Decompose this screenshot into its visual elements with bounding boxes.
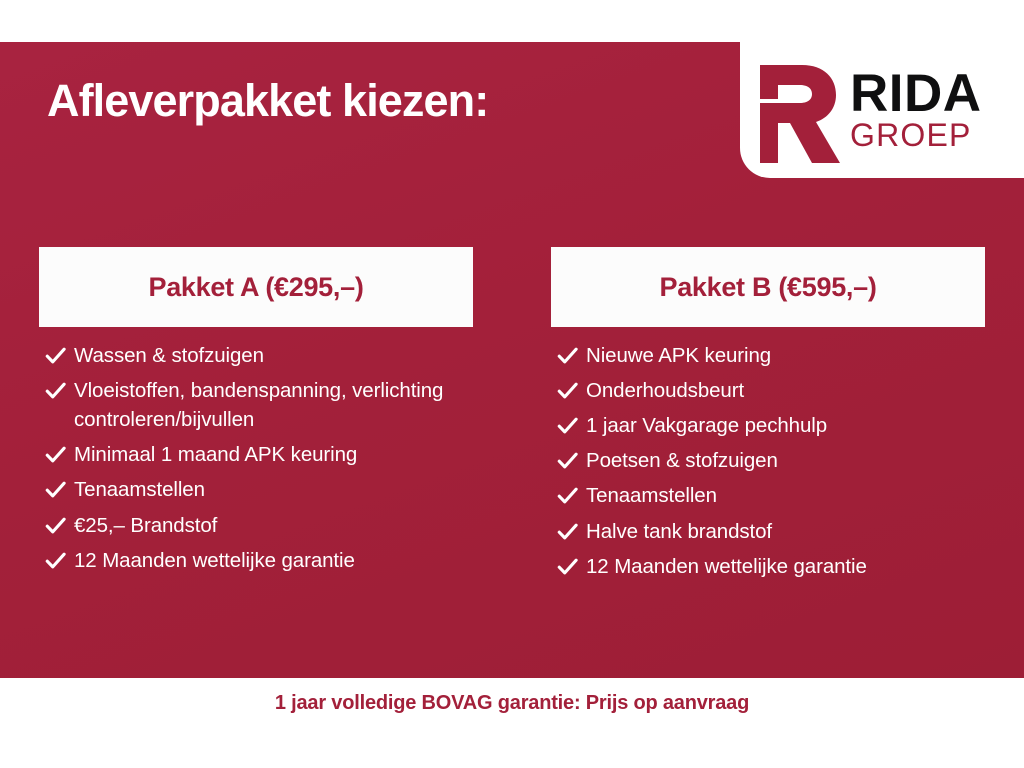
check-icon <box>555 450 580 472</box>
list-item: Poetsen & stofzuigen <box>555 446 985 475</box>
list-item-label: Onderhoudsbeurt <box>586 376 744 405</box>
list-item: Halve tank brandstof <box>555 517 985 546</box>
list-item: Onderhoudsbeurt <box>555 376 985 405</box>
page-title: Afleverpakket kiezen: <box>47 78 488 123</box>
check-icon <box>555 380 580 402</box>
slide-canvas: Pakket A (€295,–) Wassen & stofzuigen <box>0 0 1024 768</box>
list-item: 1 jaar Vakgarage pechhulp <box>555 411 985 440</box>
check-icon <box>43 550 68 572</box>
check-icon <box>43 444 68 466</box>
package-b-title: Pakket B (€595,–) <box>659 272 876 303</box>
logo-wordmark: RIDA GROEP <box>850 70 982 150</box>
list-item: Tenaamstellen <box>555 481 985 510</box>
list-item-label: Halve tank brandstof <box>586 517 772 546</box>
brand-logo-panel[interactable]: RIDA GROEP <box>740 42 1024 178</box>
check-icon <box>43 345 68 367</box>
list-item-label: Wassen & stofzuigen <box>74 341 264 370</box>
package-b-header-card: Pakket B (€595,–) <box>551 247 985 327</box>
list-item: Vloeistoffen, bandenspanning, verlichtin… <box>43 376 473 434</box>
list-item-label: Nieuwe APK keuring <box>586 341 771 370</box>
list-item: €25,– Brandstof <box>43 511 473 540</box>
logo-name: RIDA <box>850 70 982 119</box>
rida-r-monogram-icon <box>754 59 840 163</box>
list-item: 12 Maanden wettelijke garantie <box>555 552 985 581</box>
check-icon <box>555 415 580 437</box>
check-icon <box>555 556 580 578</box>
list-item-label: 1 jaar Vakgarage pechhulp <box>586 411 827 440</box>
check-icon <box>555 521 580 543</box>
list-item-label: €25,– Brandstof <box>74 511 217 540</box>
list-item-label: Tenaamstellen <box>586 481 717 510</box>
list-item-label: Vloeistoffen, bandenspanning, verlichtin… <box>74 376 473 434</box>
list-item-label: 12 Maanden wettelijke garantie <box>586 552 867 581</box>
list-item: 12 Maanden wettelijke garantie <box>43 546 473 575</box>
package-column-b[interactable]: Pakket B (€595,–) Nieuwe APK keuring <box>551 247 985 587</box>
package-b-feature-list: Nieuwe APK keuring Onderhoudsbeurt <box>551 327 985 581</box>
check-icon <box>43 380 68 402</box>
list-item: Nieuwe APK keuring <box>555 341 985 370</box>
list-item: Wassen & stofzuigen <box>43 341 473 370</box>
list-item-label: 12 Maanden wettelijke garantie <box>74 546 355 575</box>
package-a-feature-list: Wassen & stofzuigen Vloeistoffen, banden… <box>39 327 473 575</box>
footer-guarantee-text: 1 jaar volledige BOVAG garantie: Prijs o… <box>0 692 1024 715</box>
package-column-a[interactable]: Pakket A (€295,–) Wassen & stofzuigen <box>39 247 473 581</box>
list-item: Minimaal 1 maand APK keuring <box>43 440 473 469</box>
check-icon <box>43 479 68 501</box>
logo-subtitle: GROEP <box>850 121 982 150</box>
list-item-label: Poetsen & stofzuigen <box>586 446 778 475</box>
list-item: Tenaamstellen <box>43 475 473 504</box>
list-item-label: Minimaal 1 maand APK keuring <box>74 440 357 469</box>
check-icon <box>555 485 580 507</box>
list-item-label: Tenaamstellen <box>74 475 205 504</box>
check-icon <box>555 345 580 367</box>
package-a-title: Pakket A (€295,–) <box>148 272 363 303</box>
check-icon <box>43 515 68 537</box>
package-a-header-card: Pakket A (€295,–) <box>39 247 473 327</box>
footer-bar: 1 jaar volledige BOVAG garantie: Prijs o… <box>0 678 1024 768</box>
